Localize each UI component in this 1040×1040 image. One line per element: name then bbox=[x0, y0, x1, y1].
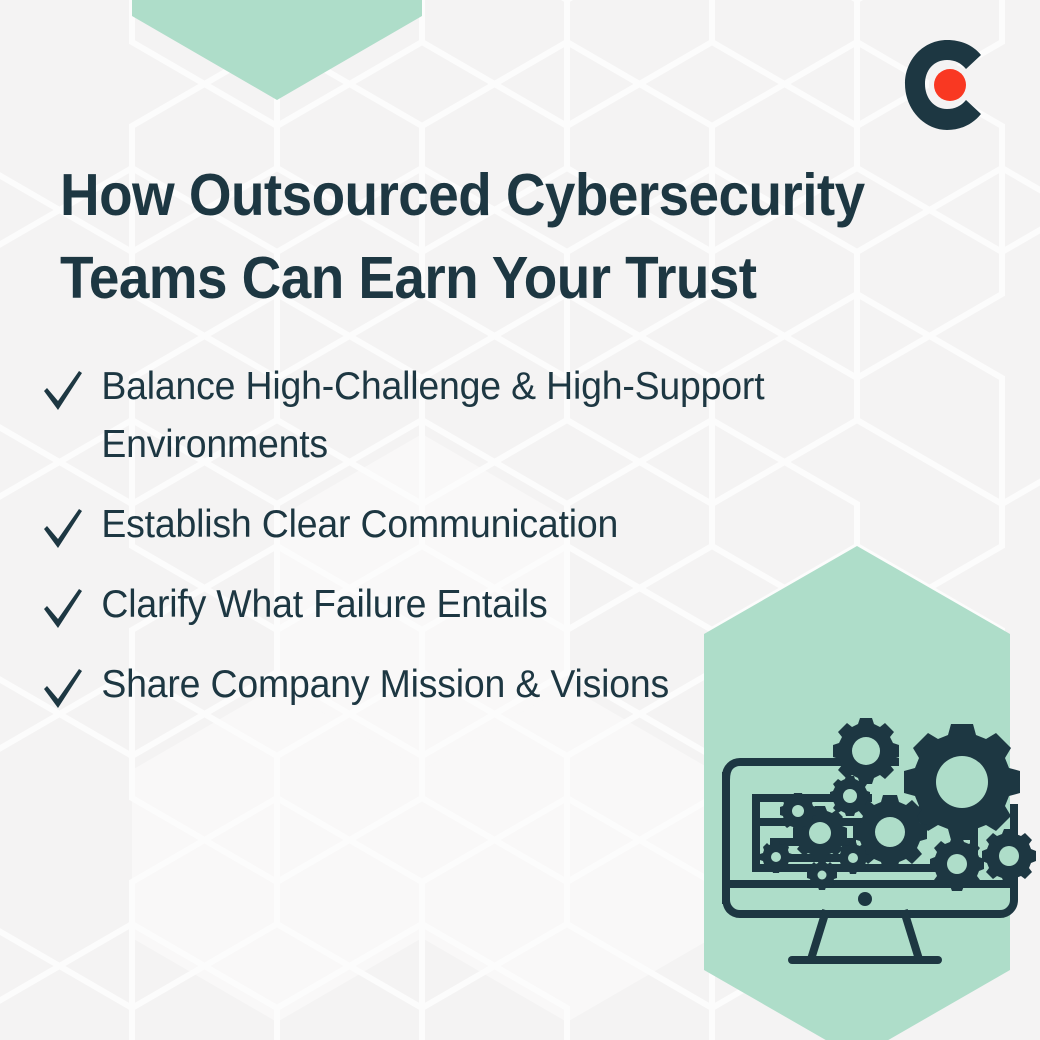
document-outline bbox=[756, 798, 974, 868]
monitor-power-dot bbox=[858, 892, 872, 906]
list-item-label: Establish Clear Communication bbox=[86, 496, 935, 554]
list-item-label: Share Company Mission & Visions bbox=[86, 656, 935, 714]
monitor-stand bbox=[812, 914, 918, 956]
social-card: How Outsourced Cybersecurity Teams Can E… bbox=[0, 0, 1040, 1040]
monitor-frame-icon bbox=[726, 762, 1014, 914]
gear-large bbox=[904, 724, 1020, 840]
monitor-with-gears-illustration bbox=[690, 690, 1040, 1010]
checkmark-icon bbox=[40, 584, 86, 632]
gear-small-2 bbox=[982, 829, 1036, 883]
list-item-label: Clarify What Failure Entails bbox=[86, 576, 935, 634]
list-item: Establish Clear Communication bbox=[40, 496, 970, 554]
page-title-line-1: How Outsourced Cybersecurity bbox=[60, 154, 916, 237]
list-item: Balance High-Challenge & High-Support En… bbox=[40, 358, 970, 474]
brand-logo[interactable] bbox=[898, 36, 996, 134]
page-title: How Outsourced Cybersecurity Teams Can E… bbox=[60, 154, 916, 320]
gear-small-3 bbox=[830, 776, 870, 816]
gear-medium-1 bbox=[833, 718, 899, 784]
checkmark-icon bbox=[40, 366, 86, 414]
gear-tiny-4 bbox=[807, 860, 837, 890]
page-title-line-2: Teams Can Earn Your Trust bbox=[60, 237, 916, 320]
checklist: Balance High-Challenge & High-Support En… bbox=[40, 358, 970, 714]
gear-medium-2 bbox=[853, 795, 927, 869]
checkmark-icon bbox=[40, 664, 86, 712]
list-item: Clarify What Failure Entails bbox=[40, 576, 970, 634]
document-lines bbox=[762, 822, 862, 858]
gear-tiny-1 bbox=[780, 793, 816, 830]
gear-medium-3 bbox=[793, 806, 847, 860]
gear-tiny-2 bbox=[760, 841, 792, 873]
gears-group bbox=[760, 718, 1036, 891]
checkmark-icon bbox=[40, 504, 86, 552]
list-item: Share Company Mission & Visions bbox=[40, 656, 970, 714]
logo-red-dot bbox=[934, 69, 966, 101]
list-item-label: Balance High-Challenge & High-Support En… bbox=[86, 358, 935, 474]
gear-small-1 bbox=[930, 837, 984, 891]
gear-tiny-3 bbox=[837, 842, 869, 874]
